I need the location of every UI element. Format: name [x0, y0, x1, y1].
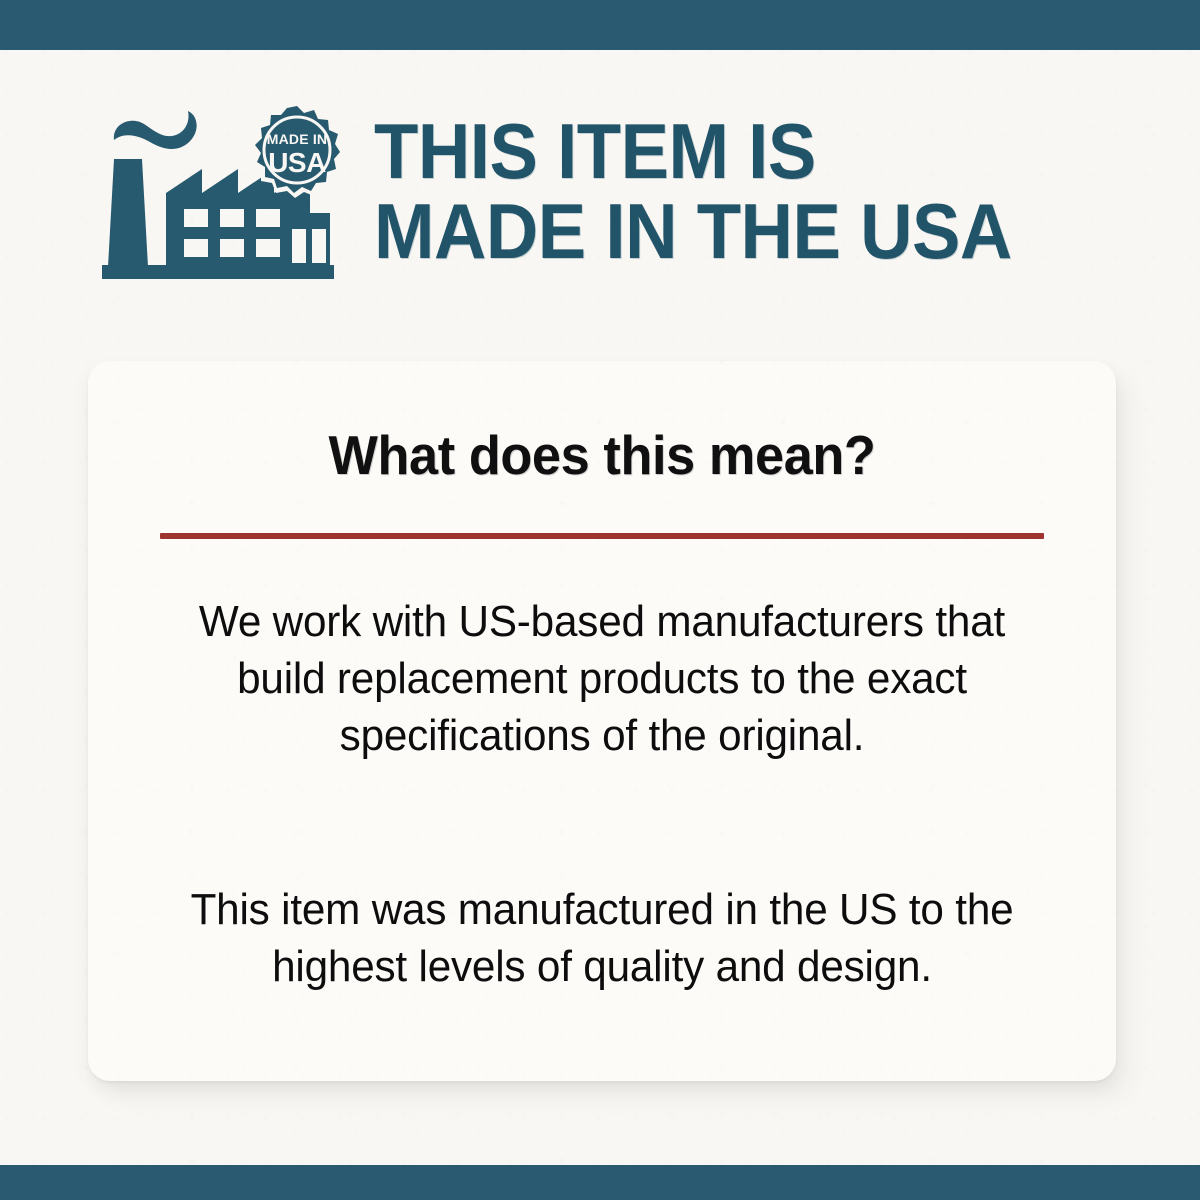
page-title: THIS ITEM IS MADE IN THE USA [374, 114, 1200, 269]
card-divider [160, 533, 1044, 539]
smoke-icon [114, 111, 197, 149]
made-in-usa-logo: MADE IN USA [98, 97, 344, 287]
badge-line-1: MADE IN [267, 131, 328, 147]
headline-line-2: MADE IN THE USA [374, 194, 1142, 270]
factory-icon: MADE IN USA [98, 97, 344, 287]
bottom-accent-band [0, 1165, 1200, 1200]
info-card: What does this mean? We work with US-bas… [88, 361, 1116, 1081]
page-root: MADE IN USA THIS ITEM IS MADE IN THE USA… [0, 0, 1200, 1200]
factory-base-shape [102, 265, 334, 279]
card-paragraph-1: We work with US-based manufacturers that… [157, 593, 1048, 764]
header: MADE IN USA THIS ITEM IS MADE IN THE USA [0, 92, 1200, 292]
card-title: What does this mean? [114, 423, 1091, 487]
card-paragraph-2: This item was manufactured in the US to … [157, 881, 1048, 995]
top-accent-band [0, 0, 1200, 50]
badge-line-2: USA [268, 147, 326, 178]
headline-line-1: THIS ITEM IS [374, 114, 1142, 190]
chimney-shape [108, 159, 148, 267]
